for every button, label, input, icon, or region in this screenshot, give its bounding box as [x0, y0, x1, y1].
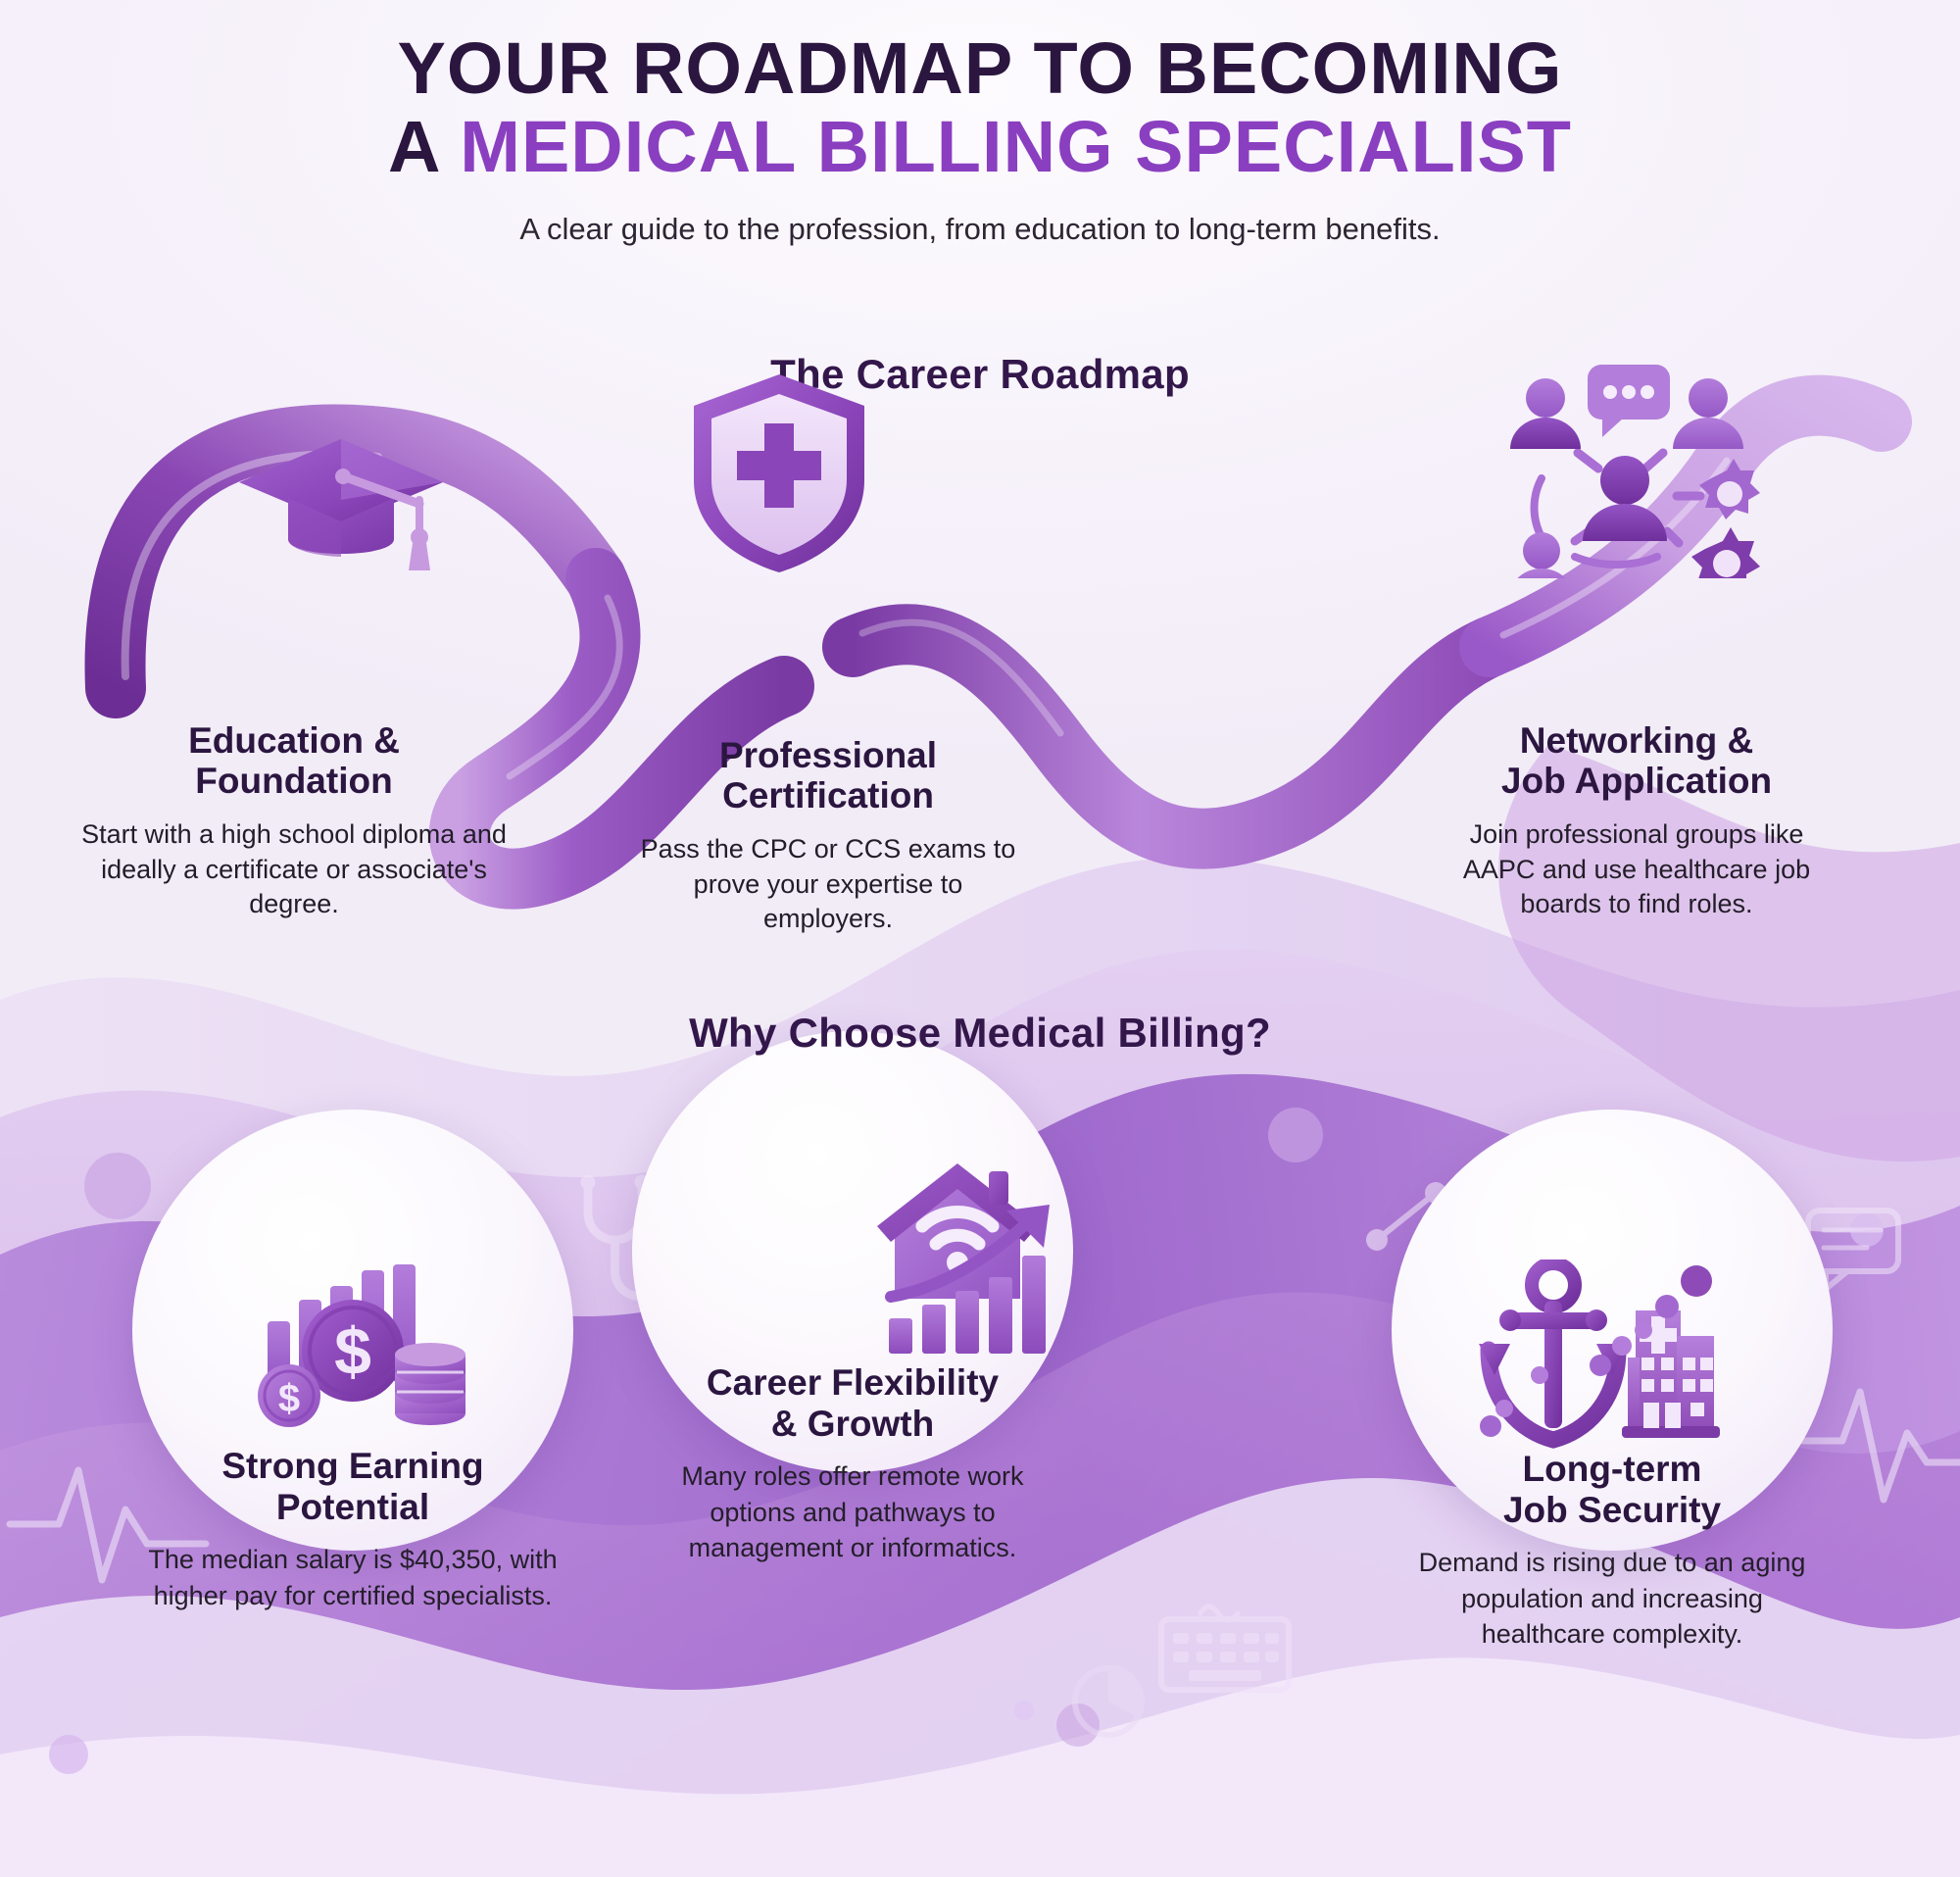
why-section-heading: Why Choose Medical Billing?: [0, 1010, 1960, 1057]
svg-text:$: $: [278, 1377, 300, 1420]
shield-medical-cross-icon: [686, 370, 872, 576]
roadmap-step-title: Professional Certification: [637, 735, 1019, 816]
remote-house-wifi-growth-icon: [867, 1161, 1083, 1358]
page-subtitle: A clear guide to the profession, from ed…: [0, 212, 1960, 247]
benefit-description: Many roles offer remote work options and…: [637, 1458, 1068, 1565]
page-title-line-2: A MEDICAL BILLING SPECIALIST: [0, 108, 1960, 186]
roadmap-step-description: Join professional groups like AAPC and u…: [1431, 817, 1842, 922]
roadmap-step-networking: Networking & Job Application Join profes…: [1431, 720, 1842, 922]
infographic-header: YOUR ROADMAP TO BECOMING A MEDICAL BILLI…: [0, 29, 1960, 247]
graduation-cap-icon: [235, 431, 461, 578]
roadmap-step-title: Education & Foundation: [78, 720, 510, 802]
benefit-title-line-1: Long-term: [1396, 1449, 1828, 1490]
page-title-prefix: A: [388, 106, 460, 187]
infographic-canvas: YOUR ROADMAP TO BECOMING A MEDICAL BILLI…: [0, 0, 1960, 1877]
roadmap-step-certification: Professional Certification Pass the CPC …: [637, 735, 1019, 937]
roadmap-step-description: Pass the CPC or CCS exams to prove your …: [637, 832, 1019, 937]
step-title-line-1: Professional: [637, 735, 1019, 775]
roadmap-step-education: Education & Foundation Start with a high…: [78, 720, 510, 922]
anchor-hospital-icon: [1475, 1260, 1720, 1451]
step-title-line-1: Education &: [78, 720, 510, 761]
benefit-description: Demand is rising due to an aging populat…: [1396, 1545, 1828, 1652]
step-title-line-1: Networking &: [1431, 720, 1842, 761]
page-title-accent: MEDICAL BILLING SPECIALIST: [460, 106, 1572, 187]
roadmap-step-description: Start with a high school diploma and ide…: [78, 817, 510, 922]
step-title-line-2: Job Application: [1431, 761, 1842, 801]
page-title-line-1: YOUR ROADMAP TO BECOMING: [0, 29, 1960, 108]
svg-text:$: $: [334, 1314, 371, 1389]
benefit-title-line-1: Career Flexibility: [637, 1362, 1068, 1404]
networking-people-gears-icon: [1485, 363, 1769, 578]
benefit-title-line-2: Job Security: [1396, 1490, 1828, 1531]
benefit-title-line-2: & Growth: [637, 1404, 1068, 1445]
benefit-title: Career Flexibility & Growth: [637, 1362, 1068, 1445]
benefit-title: Long-term Job Security: [1396, 1449, 1828, 1531]
roadmap-step-title: Networking & Job Application: [1431, 720, 1842, 802]
step-title-line-2: Foundation: [78, 761, 510, 801]
benefit-title-line-1: Strong Earning: [137, 1446, 568, 1487]
money-coins-chart-icon: $ $: [250, 1264, 475, 1441]
step-title-line-2: Certification: [637, 775, 1019, 815]
benefit-text-flexibility: Career Flexibility & Growth Many roles o…: [637, 1362, 1068, 1565]
benefit-description: The median salary is $40,350, with highe…: [137, 1542, 568, 1612]
benefit-text-security: Long-term Job Security Demand is rising …: [1396, 1449, 1828, 1652]
benefit-title-line-2: Potential: [137, 1487, 568, 1528]
benefit-title: Strong Earning Potential: [137, 1446, 568, 1528]
benefit-text-earning: Strong Earning Potential The median sala…: [137, 1446, 568, 1613]
